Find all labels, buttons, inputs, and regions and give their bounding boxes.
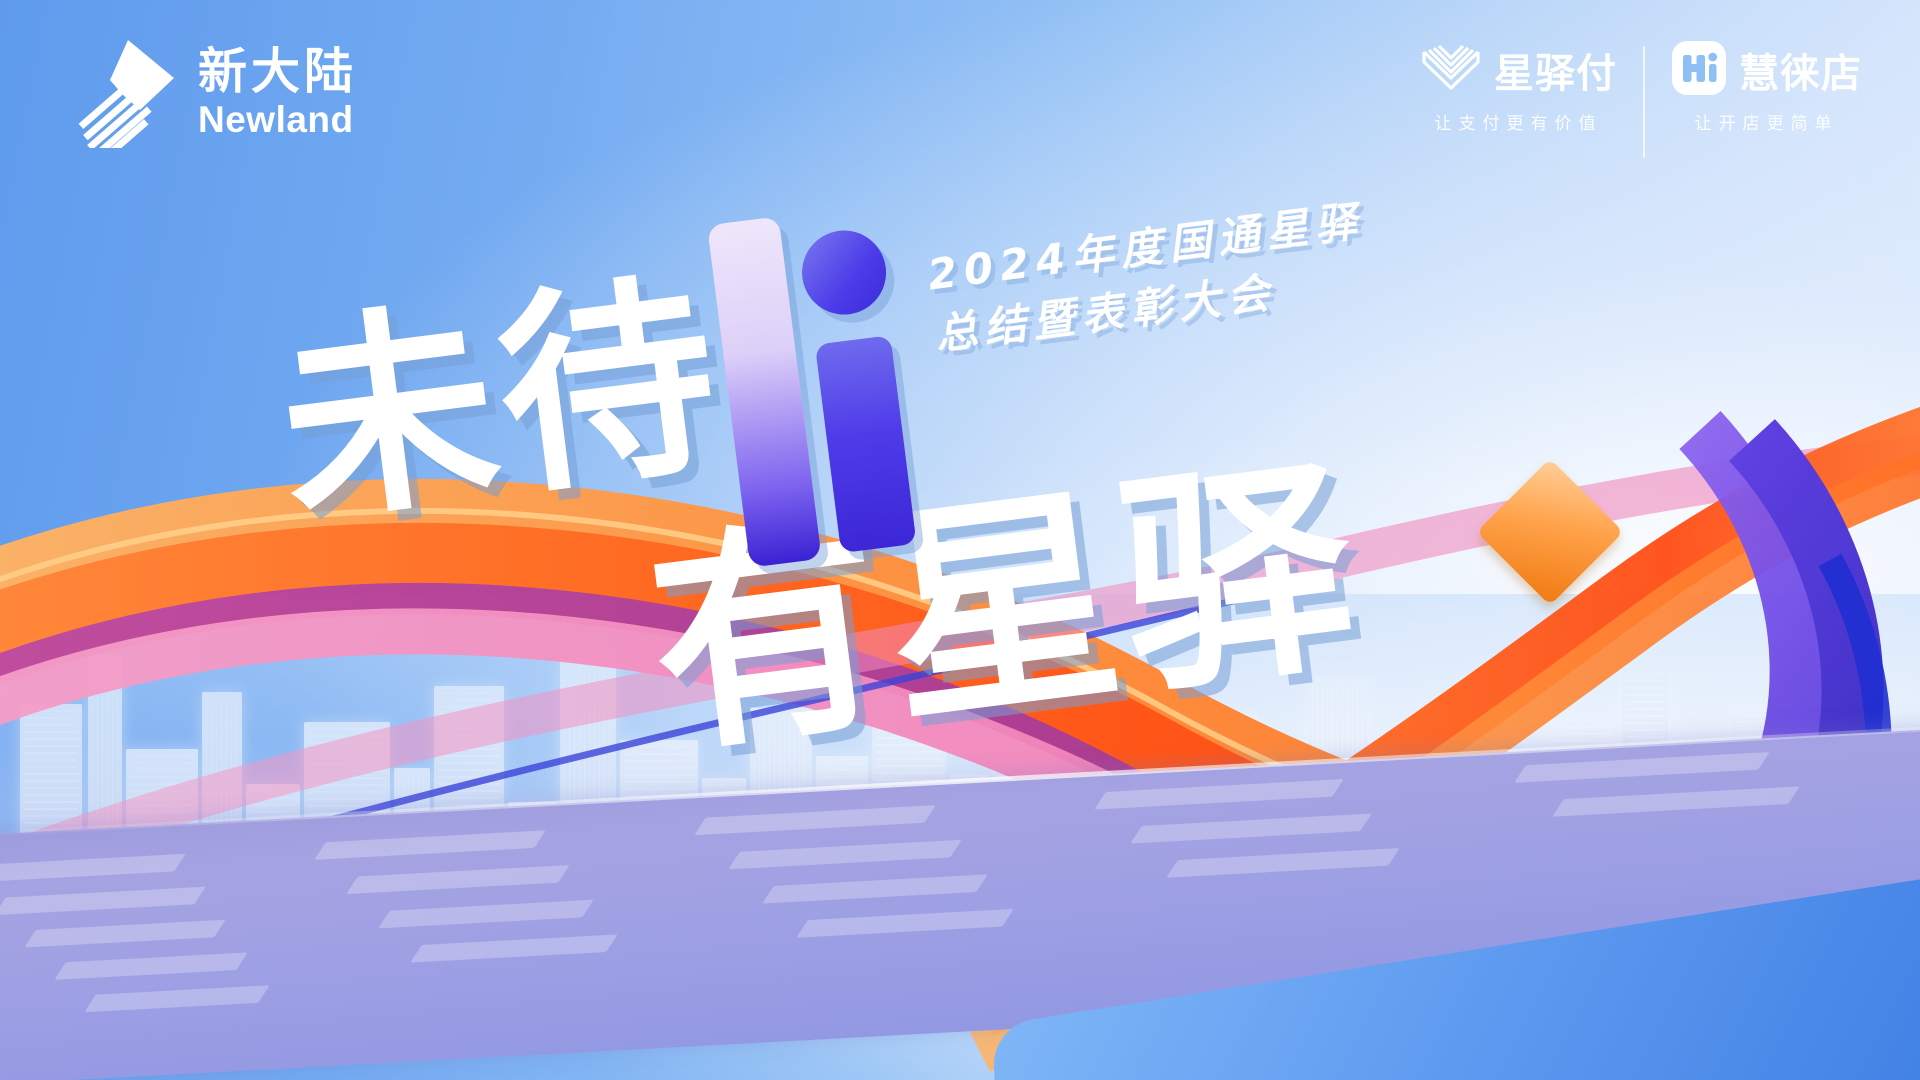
i-dot bbox=[797, 226, 891, 320]
brand-divider bbox=[1643, 46, 1645, 158]
brand-xingyifu[interactable]: 星驿付 让支付更有价值 bbox=[1420, 42, 1617, 134]
newland-wordmark: 新大陆 Newland bbox=[198, 47, 357, 138]
hi-rounded-square-icon bbox=[1671, 40, 1727, 101]
newland-name-en: Newland bbox=[198, 101, 357, 138]
i-stem bbox=[815, 335, 917, 553]
newland-logo[interactable]: 新大陆 Newland bbox=[74, 36, 357, 148]
brand-tagline-xingyifu: 让支付更有价值 bbox=[1435, 109, 1603, 134]
newland-name-cn: 新大陆 bbox=[198, 47, 357, 96]
brand-lockups: 星驿付 让支付更有价值 bbox=[1420, 42, 1862, 158]
event-title: 2024年度国通星驿 总结暨表彰大会 bbox=[924, 191, 1374, 364]
i-gradient-bar bbox=[707, 216, 822, 567]
brand-name-huilaidian: 慧徕店 bbox=[1739, 41, 1862, 99]
brand-name-xingyifu: 星驿付 bbox=[1494, 41, 1617, 99]
headline-char-dai: 待 bbox=[485, 249, 736, 526]
headline-char-wei: 未 bbox=[266, 276, 517, 553]
brand-tagline-huilaidian: 让开店更简单 bbox=[1695, 109, 1839, 134]
heart-ribbon-icon bbox=[1420, 40, 1482, 101]
orange-diamond-accent bbox=[1476, 458, 1623, 605]
newland-diamond-mark bbox=[74, 36, 182, 148]
i-glyph-accent bbox=[755, 225, 924, 559]
poster-canvas: 新大陆 Newland 星驿付 bbox=[0, 0, 1920, 1080]
brand-huilaidian[interactable]: 慧徕店 让开店更简单 bbox=[1671, 42, 1862, 134]
headline-line-1: 未待 bbox=[268, 267, 733, 536]
